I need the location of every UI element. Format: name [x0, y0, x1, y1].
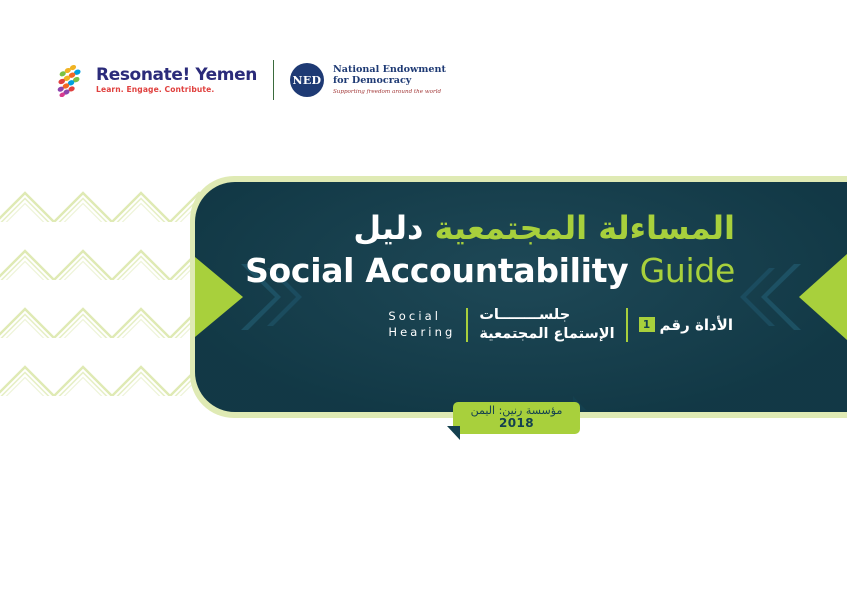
subtitle-divider-1	[466, 308, 468, 342]
subtitle-english: Social Hearing	[388, 309, 455, 340]
title-block: المساءلة المجتمعية دليل Social Accountab…	[195, 182, 847, 412]
ned-logo-text: National Endowment for Democracy Support…	[333, 65, 446, 95]
logo-divider	[273, 60, 274, 100]
subtitle-arabic: جلســــــــات الإستماع المجتمعية	[479, 306, 614, 344]
subtitle-row: Social Hearing جلســــــــات الإستماع ال…	[388, 306, 735, 344]
tool-number-label: الأداة رقم 1	[639, 316, 733, 334]
logo-bar: Resonate! Yemen Learn. Engage. Contribut…	[52, 58, 446, 102]
title-english-green: Guide	[640, 251, 735, 290]
title-arabic-white: دليل	[353, 209, 423, 247]
ned-seal-text: NED	[293, 74, 322, 87]
resonate-yemen-logo: Resonate! Yemen Learn. Engage. Contribut…	[52, 58, 257, 102]
tool-number-badge: 1	[639, 317, 655, 332]
subtitle-arabic-line2: الإستماع المجتمعية	[479, 325, 614, 344]
title-english-white: Social Accountability	[245, 251, 628, 290]
subtitle-english-line2: Hearing	[388, 325, 455, 340]
resonate-logo-tagline: Learn. Engage. Contribute.	[96, 86, 257, 94]
ned-logo: NED National Endowment for Democracy Sup…	[290, 58, 446, 102]
ribbon-tail-left	[447, 426, 460, 440]
resonate-swoosh-icon	[52, 63, 92, 97]
cover-panel: المساءلة المجتمعية دليل Social Accountab…	[190, 176, 847, 418]
organization-ribbon: مؤسسة رنين: اليمن 2018	[447, 402, 586, 440]
ned-logo-tagline: Supporting freedom around the world	[333, 89, 446, 95]
resonate-logo-name: Resonate! Yemen	[96, 67, 257, 84]
resonate-logo-text: Resonate! Yemen Learn. Engage. Contribut…	[96, 67, 257, 94]
ribbon-body: مؤسسة رنين: اليمن 2018	[453, 402, 580, 434]
ned-seal-icon: NED	[290, 63, 324, 97]
publication-year: 2018	[499, 417, 534, 430]
title-english: Social Accountability Guide	[245, 253, 735, 290]
subtitle-divider-2	[626, 308, 628, 342]
tool-label-text: الأداة رقم	[660, 316, 733, 334]
cover-page: Resonate! Yemen Learn. Engage. Contribut…	[0, 0, 847, 599]
title-arabic: المساءلة المجتمعية دليل	[353, 210, 735, 247]
subtitle-english-line1: Social	[388, 309, 441, 324]
title-arabic-green: المساءلة المجتمعية	[435, 209, 735, 247]
ned-logo-line2: for Democracy	[333, 76, 446, 87]
subtitle-arabic-line1: جلســــــــات	[479, 306, 570, 325]
panel-body: المساءلة المجتمعية دليل Social Accountab…	[195, 182, 847, 412]
